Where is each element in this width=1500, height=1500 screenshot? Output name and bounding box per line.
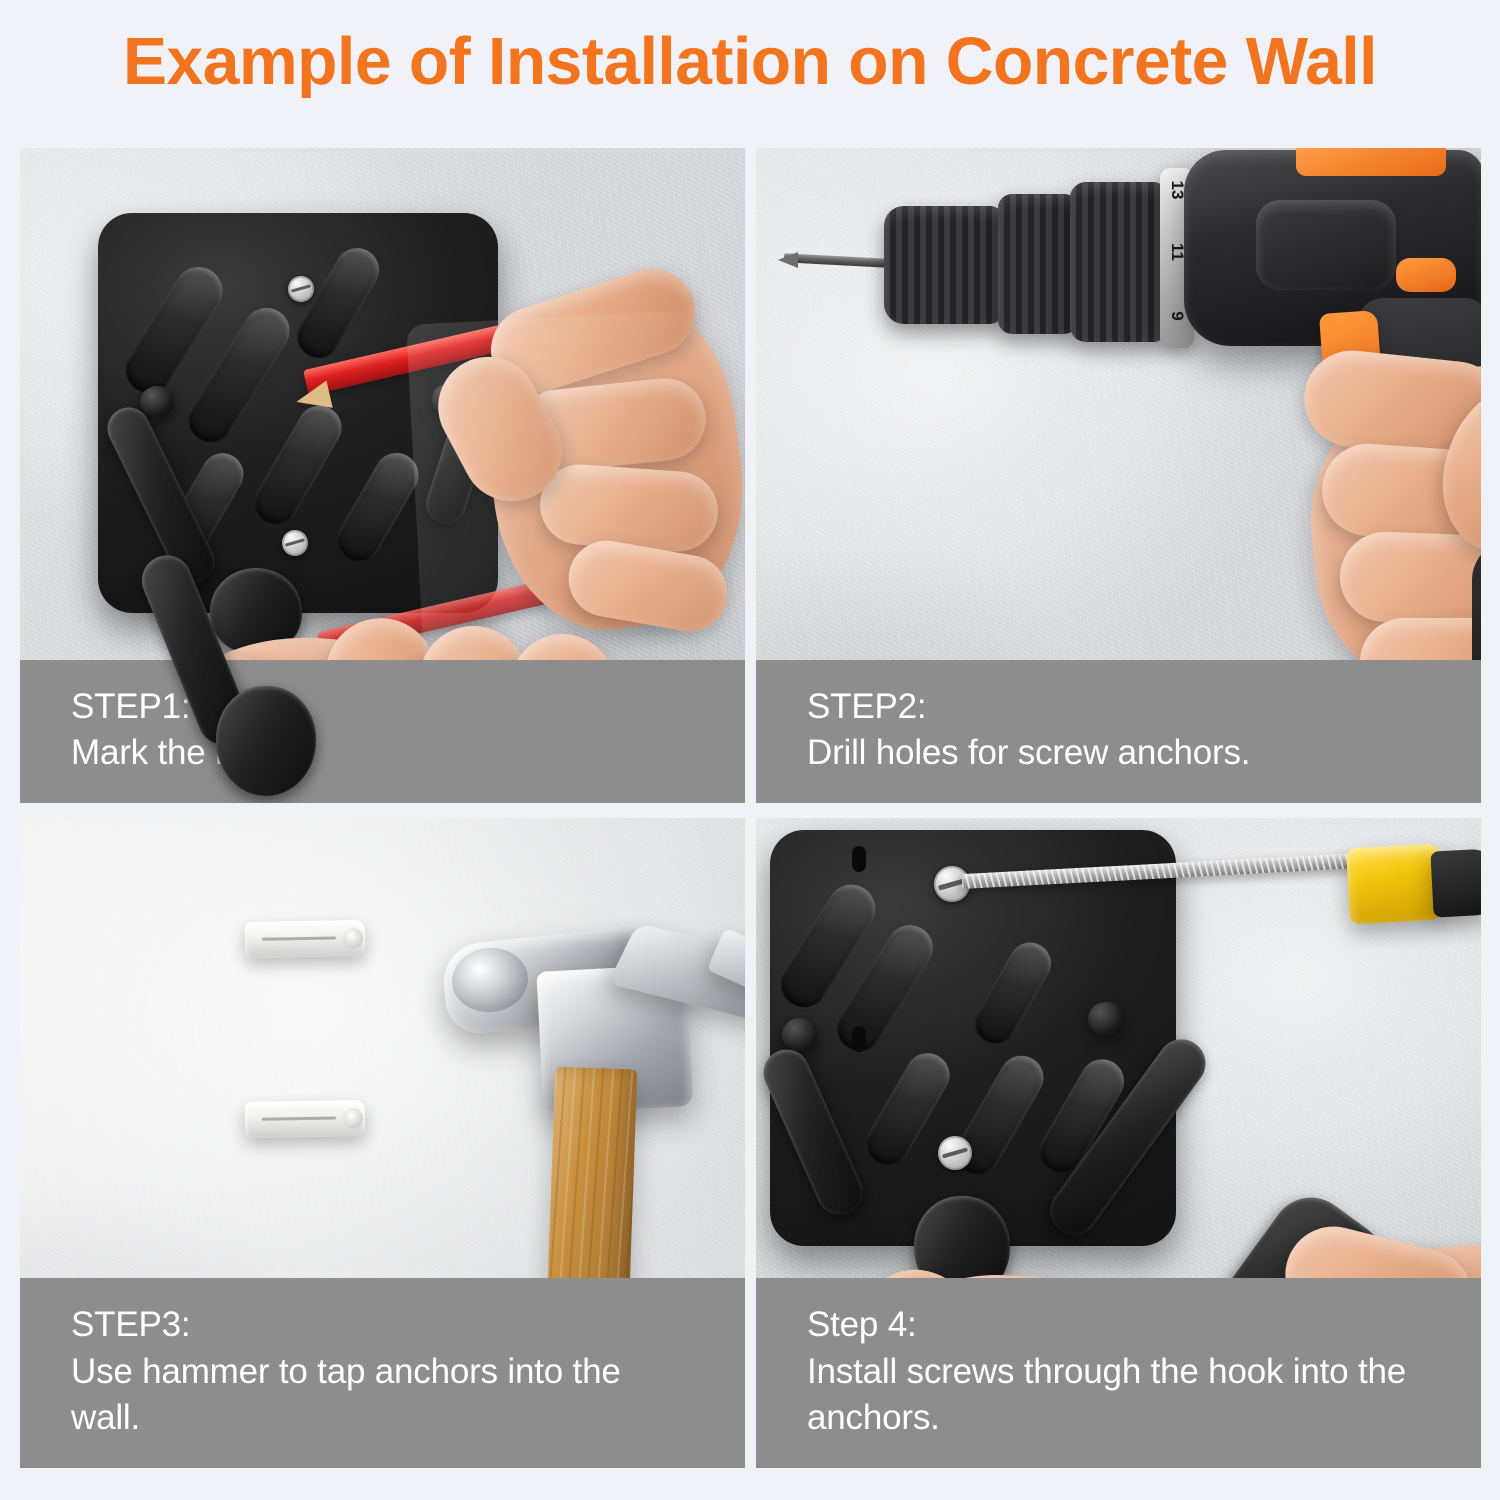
step-panel-1: STEP1: Mark the holes.: [20, 148, 745, 803]
anchor-slit: [262, 936, 336, 941]
installation-guide-page: Example of Installation on Concrete Wall: [0, 0, 1500, 1500]
finger-ring: [537, 462, 720, 554]
hook-base-right: [1088, 1002, 1124, 1036]
screw-bottom: [938, 1136, 972, 1170]
step-label-1: STEP1:: [71, 684, 745, 731]
step-text-3-line-1: Use hammer to tap anchors into the: [71, 1349, 745, 1396]
step-panel-4: Step 4: Install screws through the hook …: [756, 818, 1481, 1468]
wall-anchor-bottom: [245, 1100, 366, 1138]
page-title: Example of Installation on Concrete Wall: [11, 26, 1489, 98]
hook-tip-front: [216, 686, 316, 796]
plate-slot-bottom: [852, 1026, 866, 1052]
drill-chuck-collar: [998, 194, 1078, 334]
wall-anchor-top: [245, 920, 366, 958]
drill-orange-button: [1396, 258, 1456, 292]
step-caption-4: Step 4: Install screws through the hook …: [756, 1278, 1481, 1468]
mounting-hole-mark-top: [288, 276, 314, 302]
step-text-3-line-2: wall.: [71, 1395, 745, 1442]
torque-mark-9: 9: [1167, 311, 1187, 320]
drill-chuck: [884, 206, 1004, 324]
step-label-3: STEP3:: [71, 1302, 745, 1349]
step-panel-2: 13 11 9 STEP2: Drill holes for screw a: [756, 148, 1481, 803]
finger-ring: [1338, 530, 1481, 627]
drill-gearbox: [1070, 182, 1164, 342]
step-panel-3: STEP3: Use hammer to tap anchors into th…: [20, 818, 745, 1468]
screwdriver-grip: [1430, 848, 1481, 917]
step-caption-3: STEP3: Use hammer to tap anchors into th…: [20, 1278, 745, 1468]
mounting-hole-mark-bottom: [282, 530, 308, 556]
steps-grid: STEP1: Mark the holes. 13 11 9: [20, 148, 1481, 1468]
step-label-2: STEP2:: [807, 684, 1481, 731]
anchor-slit: [262, 1116, 336, 1121]
step-text-2: Drill holes for screw anchors.: [807, 730, 1481, 777]
step-caption-2: STEP2: Drill holes for screw anchors.: [756, 660, 1481, 803]
hook-base-left: [140, 386, 174, 418]
step-label-4: Step 4:: [807, 1302, 1481, 1349]
step-text-4-line-1: Install screws through the hook into the: [807, 1349, 1481, 1396]
step-text-1: Mark the holes.: [71, 730, 745, 777]
drill-bit-tip: [778, 252, 798, 268]
step-text-4-line-2: anchors.: [807, 1395, 1481, 1442]
drill-body-inset: [1256, 200, 1396, 290]
step-caption-1: STEP1: Mark the holes.: [20, 660, 745, 803]
drill-orange-accent: [1296, 148, 1446, 176]
plate-slot-top: [852, 846, 866, 872]
hook-base-left: [782, 1018, 818, 1052]
